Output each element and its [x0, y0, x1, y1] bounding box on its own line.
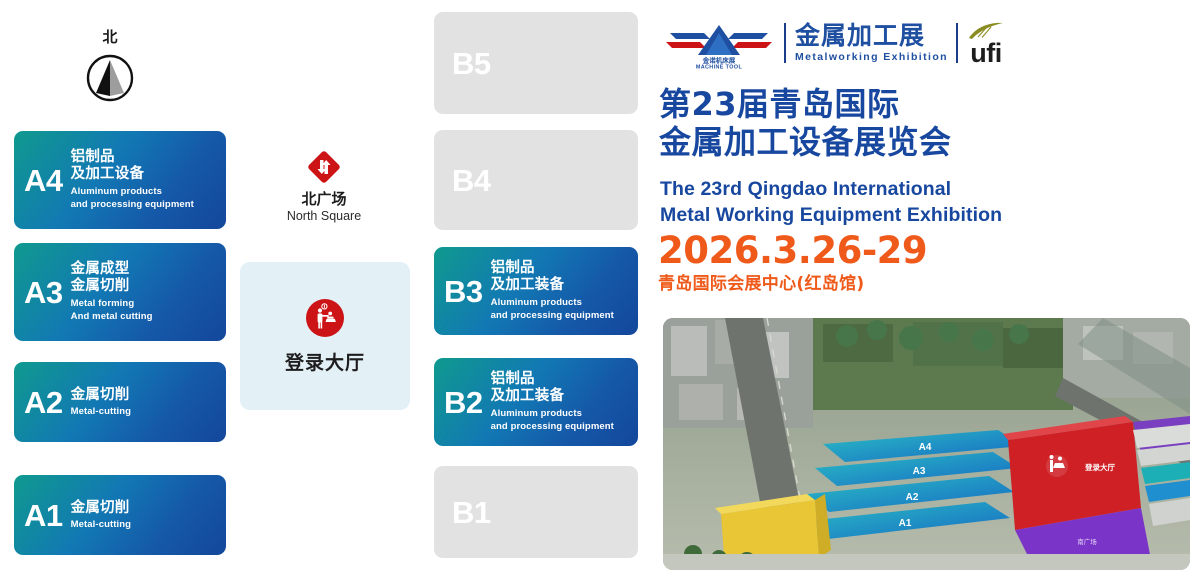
hall-block-b5[interactable]: B5: [434, 12, 638, 114]
hall-code: A4: [24, 165, 63, 196]
hall-description: 铝制品 及加工装备 Aluminum products and processi…: [491, 260, 630, 321]
aerial-site-rendering: A4 A3 A2 A1 登录大厅: [663, 318, 1190, 570]
hall-block-b1[interactable]: B1: [434, 466, 638, 558]
hall-en-line1: Aluminum products: [71, 186, 218, 198]
hall-description: 金属成型 金属切削 Metal forming And metal cuttin…: [71, 261, 218, 322]
exhibition-title-en: Metalworking Exhibition: [795, 52, 948, 63]
svg-text:A1: A1: [899, 518, 912, 529]
hall-en-line2: and processing equipment: [71, 199, 218, 211]
hall-code: A3: [24, 277, 63, 308]
hall-code: A1: [24, 500, 63, 531]
hall-cn-line1: 铝制品: [71, 149, 218, 166]
ufi-text: ufi: [970, 41, 1002, 65]
hall-code: A2: [24, 387, 63, 418]
hall-block-a3[interactable]: A3 金属成型 金属切削 Metal forming And metal cut…: [14, 243, 226, 341]
hall-en-line1: Metal forming: [71, 298, 218, 310]
hall-description: 金属切削 Metal-cutting: [71, 387, 218, 418]
hall-cn-line2: 及加工装备: [491, 388, 630, 405]
hall-cn-line2: 及加工设备: [71, 166, 218, 183]
headline-line-2: 金属加工设备展览会: [659, 124, 1079, 162]
svg-text:A4: A4: [919, 442, 932, 453]
hall-en-line2: and processing equipment: [491, 310, 630, 322]
subhead-line-2: Metal Working Equipment Exhibition: [660, 203, 1002, 229]
svg-text:A2: A2: [906, 492, 919, 503]
svg-text:金诺机床展: 金诺机床展: [702, 56, 736, 65]
hall-code: B1: [452, 497, 491, 528]
exhibition-floorplan-poster: 北 A4 铝制品 及加工设备 Aluminum products and pro…: [0, 0, 1200, 588]
hall-en-line1: Aluminum products: [491, 408, 630, 420]
brand-logo-row: 金诺机床展 MACHINE TOOL 金属加工展 Metalworking Ex…: [660, 16, 1006, 70]
exhibition-title-cn: 金属加工展: [795, 23, 948, 48]
hall-code: B3: [444, 276, 483, 307]
hall-block-a1[interactable]: A1 金属切削 Metal-cutting: [14, 475, 226, 555]
ufi-logo: ufi: [966, 21, 1006, 65]
hall-cn-line1: 金属切削: [71, 500, 218, 517]
event-info-panel: 金诺机床展 MACHINE TOOL 金属加工展 Metalworking Ex…: [655, 0, 1200, 588]
registration-lobby-block[interactable]: 登录大厅: [240, 262, 410, 410]
hall-block-b3[interactable]: B3 铝制品 及加工装备 Aluminum products and proce…: [434, 247, 638, 335]
hall-block-a2[interactable]: A2 金属切削 Metal-cutting: [14, 362, 226, 442]
hall-en-line2: and processing equipment: [491, 421, 630, 433]
svg-text:MACHINE TOOL: MACHINE TOOL: [696, 65, 743, 70]
hall-cn-line1: 铝制品: [491, 260, 630, 277]
logo-divider-2: [956, 23, 958, 63]
headline-line-1: 第23届青岛国际: [659, 86, 1079, 124]
hall-cn-line2: 及加工装备: [491, 277, 630, 294]
event-venue: 青岛国际会展中心(红岛馆): [658, 275, 927, 294]
svg-text:A3: A3: [913, 466, 926, 477]
aerial-rendering-graphic: A4 A3 A2 A1 登录大厅: [663, 318, 1190, 570]
svg-text:南广场: 南广场: [1077, 537, 1097, 546]
hall-description: 铝制品 及加工设备 Aluminum products and processi…: [71, 149, 218, 210]
lobby-label: 登录大厅: [285, 348, 365, 375]
hall-cn-line1: 铝制品: [491, 371, 630, 388]
svg-text:登录大厅: 登录大厅: [1084, 462, 1115, 472]
hall-description: 铝制品 及加工装备 Aluminum products and processi…: [491, 371, 630, 432]
event-headline: 第23届青岛国际 金属加工设备展览会: [659, 86, 1079, 162]
hall-column-a: A4 铝制品 及加工设备 Aluminum products and proce…: [14, 0, 226, 588]
exhibition-title-block: 金属加工展 Metalworking Exhibition: [795, 23, 948, 63]
hall-column-b: B5 B4 B3 铝制品 及加工装备 Aluminum products and…: [434, 0, 638, 588]
hall-code: B2: [444, 387, 483, 418]
hall-cn-line1: 金属成型: [71, 261, 218, 278]
machine-tool-emblem-icon: 金诺机床展 MACHINE TOOL: [660, 17, 778, 69]
hall-en-line1: Aluminum products: [491, 297, 630, 309]
subhead-line-1: The 23rd Qingdao International: [660, 177, 1002, 203]
escalator-arrows-icon: [307, 150, 341, 184]
north-square-cn: 北广场: [276, 191, 372, 208]
hall-code: B4: [452, 165, 491, 196]
north-square-en: North Square: [276, 210, 372, 224]
hall-en-line2: And metal cutting: [71, 311, 218, 323]
hall-block-b2[interactable]: B2 铝制品 及加工装备 Aluminum products and proce…: [434, 358, 638, 446]
event-subheadline: The 23rd Qingdao International Metal Wor…: [660, 177, 1002, 228]
logo-divider: [784, 23, 786, 63]
hall-cn-line1: 金属切削: [71, 387, 218, 404]
event-date: 2026.3.26-29: [658, 232, 927, 269]
hall-block-a4[interactable]: A4 铝制品 及加工设备 Aluminum products and proce…: [14, 131, 226, 229]
north-square-marker: 北广场 North Square: [276, 150, 372, 223]
hall-description: 金属切削 Metal-cutting: [71, 500, 218, 531]
hall-cn-line2: 金属切削: [71, 278, 218, 295]
hall-block-b4[interactable]: B4: [434, 130, 638, 230]
event-date-block: 2026.3.26-29 青岛国际会展中心(红岛馆): [658, 232, 927, 294]
registration-people-icon: [305, 298, 345, 338]
hall-en-line1: Metal-cutting: [71, 406, 218, 418]
hall-en-line1: Metal-cutting: [71, 519, 218, 531]
hall-code: B5: [452, 48, 491, 79]
